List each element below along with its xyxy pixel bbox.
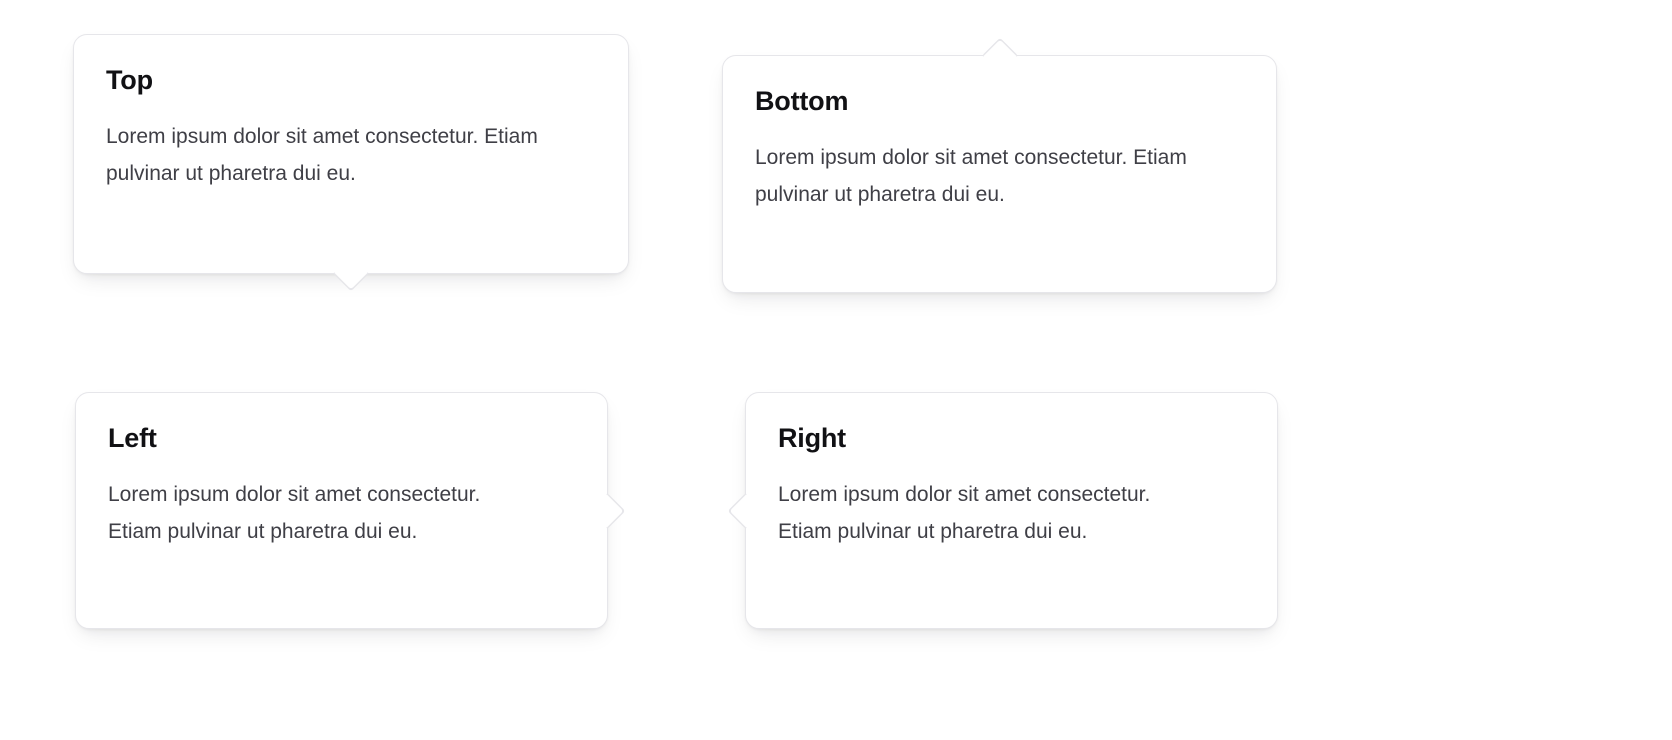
popover-body-text: Lorem ipsum dolor sit amet consectetur. … — [778, 476, 1198, 551]
popover-title: Left — [108, 423, 575, 454]
popover-bottom[interactable]: Bottom Lorem ipsum dolor sit amet consec… — [722, 55, 1277, 293]
popover-content: Left Lorem ipsum dolor sit amet consecte… — [76, 393, 607, 585]
popover-content: Bottom Lorem ipsum dolor sit amet consec… — [723, 56, 1276, 248]
popover-title: Right — [778, 423, 1245, 454]
popover-content: Top Lorem ipsum dolor sit amet consectet… — [74, 35, 628, 227]
caret-down-icon — [338, 260, 364, 286]
popover-content: Right Lorem ipsum dolor sit amet consect… — [746, 393, 1277, 585]
popover-body-text: Lorem ipsum dolor sit amet consectetur. … — [755, 139, 1244, 214]
popover-top[interactable]: Top Lorem ipsum dolor sit amet consectet… — [73, 34, 629, 274]
popover-title: Top — [106, 65, 596, 96]
popover-right[interactable]: Right Lorem ipsum dolor sit amet consect… — [745, 392, 1278, 629]
popover-body-text: Lorem ipsum dolor sit amet consectetur. … — [106, 118, 596, 193]
popover-showcase: Top Lorem ipsum dolor sit amet consectet… — [0, 0, 1672, 740]
popover-title: Bottom — [755, 86, 1244, 117]
popover-body-text: Lorem ipsum dolor sit amet consectetur. … — [108, 476, 528, 551]
popover-left[interactable]: Left Lorem ipsum dolor sit amet consecte… — [75, 392, 608, 629]
